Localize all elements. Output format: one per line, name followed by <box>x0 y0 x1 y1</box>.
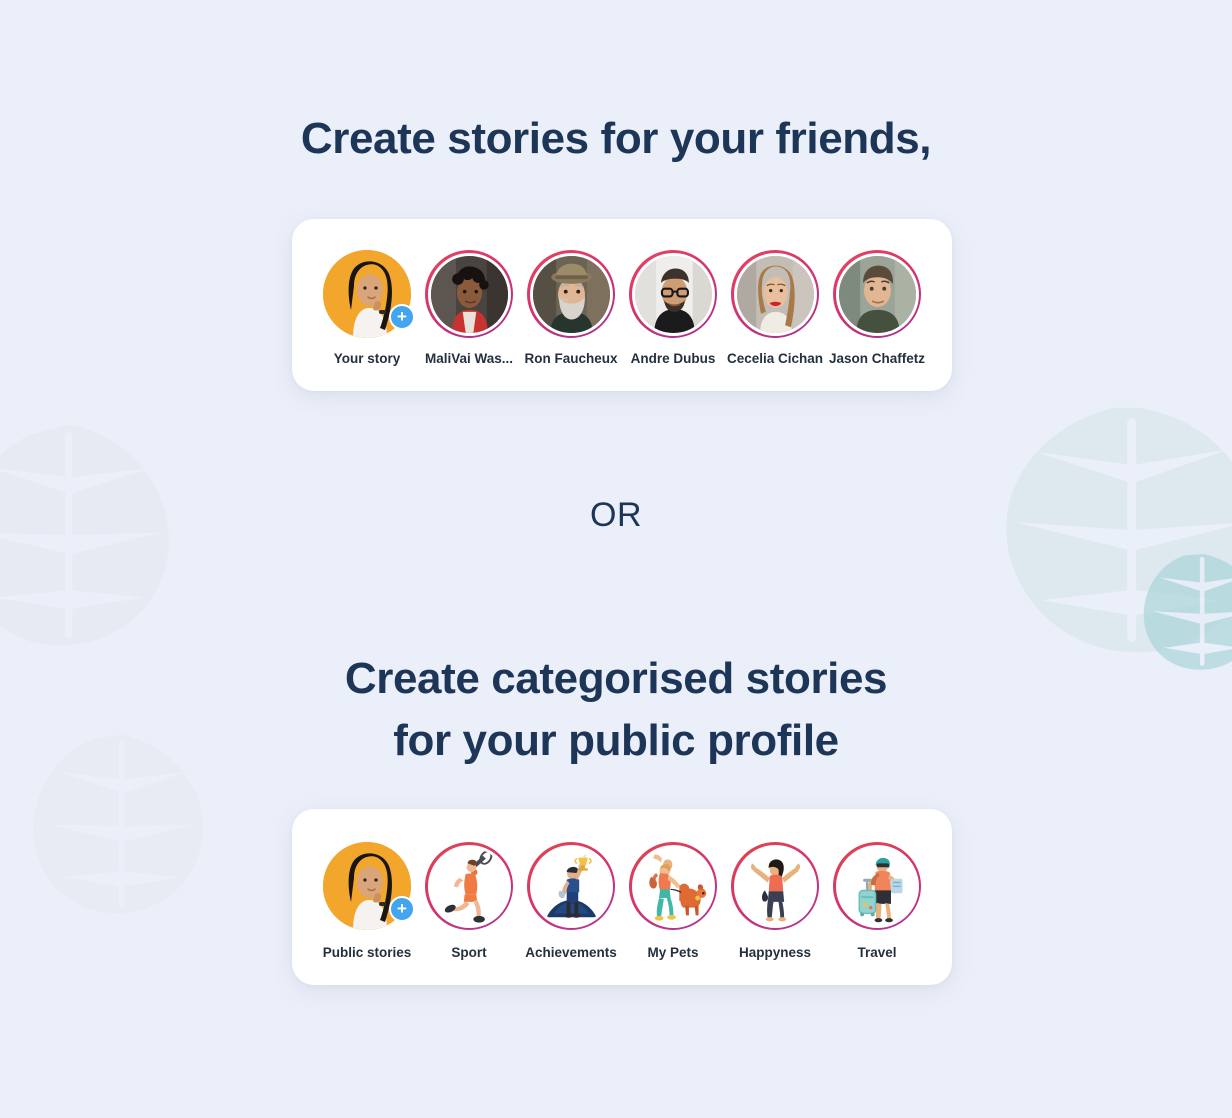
story-label: Sport <box>451 945 486 960</box>
category-ring[interactable] <box>629 842 717 930</box>
category-ring-inner <box>734 845 817 928</box>
story-item-achievements[interactable]: Achievements <box>520 842 622 960</box>
category-illustration <box>737 848 814 925</box>
traveler-suitcase-icon <box>839 848 916 925</box>
category-ring-inner <box>632 845 715 928</box>
public-stories-card: + Public stories <box>292 809 952 985</box>
category-ring[interactable] <box>425 842 513 930</box>
tennis-player-icon <box>431 848 508 925</box>
dog-walker-icon <box>635 848 712 925</box>
story-label: My Pets <box>647 945 698 960</box>
monstera-leaf-left-large-icon <box>0 415 195 655</box>
story-item-my-pets[interactable]: My Pets <box>622 842 724 960</box>
avatar-ring[interactable] <box>527 250 615 338</box>
page-title-secondary: Create categorised stories for your publ… <box>0 648 1232 771</box>
avatar-photo <box>839 256 916 333</box>
page-title-primary: Create stories for your friends, <box>0 114 1232 164</box>
avatar-photo <box>431 256 508 333</box>
story-label: Cecelia Cichan <box>727 351 823 366</box>
category-illustration <box>839 848 916 925</box>
story-item-your-story[interactable]: + Your story <box>316 250 418 366</box>
avatar-ring-inner <box>632 253 715 336</box>
add-story-badge[interactable]: + <box>389 304 415 330</box>
public-stories-strip: + Public stories <box>316 809 928 960</box>
woman-red-lips-portrait-icon <box>737 256 814 333</box>
story-item-cecelia-cichan[interactable]: Cecelia Cichan <box>724 250 826 366</box>
story-label: Andre Dubus <box>631 351 716 366</box>
avatar-your-story[interactable]: + <box>323 250 411 338</box>
story-item-travel[interactable]: Travel <box>826 842 928 960</box>
bearded-man-with-hat-portrait-icon <box>533 256 610 333</box>
category-ring[interactable] <box>731 842 819 930</box>
avatar-ring[interactable] <box>833 250 921 338</box>
story-item-andre-dubus[interactable]: Andre Dubus <box>622 250 724 366</box>
category-ring-inner <box>428 845 511 928</box>
man-with-glasses-portrait-icon <box>635 256 712 333</box>
avatar-ring[interactable] <box>629 250 717 338</box>
celebrating-woman-icon <box>737 848 814 925</box>
story-label: Ron Faucheux <box>524 351 617 366</box>
category-ring-inner <box>530 845 613 928</box>
avatar-photo <box>635 256 712 333</box>
page-title-secondary-line1: Create categorised stories <box>0 648 1232 710</box>
story-item-happyness[interactable]: Happyness <box>724 842 826 960</box>
friends-stories-card: + Your story <box>292 219 952 391</box>
story-item-malivai[interactable]: MaliVai Was... <box>418 250 520 366</box>
avatar-ring-inner <box>734 253 817 336</box>
trophy-winner-icon <box>533 848 610 925</box>
story-item-sport[interactable]: Sport <box>418 842 520 960</box>
category-ring-inner <box>836 845 919 928</box>
story-label: Achievements <box>525 945 617 960</box>
man-green-jacket-portrait-icon <box>839 256 916 333</box>
story-label: MaliVai Was... <box>425 351 513 366</box>
friends-stories-strip: + Your story <box>316 219 928 366</box>
avatar-ring-inner <box>836 253 919 336</box>
story-item-jason-chaffetz[interactable]: Jason Chaffetz <box>826 250 928 366</box>
avatar-ring-inner <box>530 253 613 336</box>
page-title-secondary-line2: for your public profile <box>0 710 1232 772</box>
category-illustration <box>533 848 610 925</box>
story-label: Happyness <box>739 945 811 960</box>
story-item-ron-faucheux[interactable]: Ron Faucheux <box>520 250 622 366</box>
story-item-public-stories[interactable]: + Public stories <box>316 842 418 960</box>
avatar-ring-inner <box>428 253 511 336</box>
story-label: Public stories <box>323 945 412 960</box>
young-man-portrait-icon <box>431 256 508 333</box>
category-ring[interactable] <box>833 842 921 930</box>
add-story-badge[interactable]: + <box>389 896 415 922</box>
avatar-public-stories[interactable]: + <box>323 842 411 930</box>
avatar-photo <box>533 256 610 333</box>
story-label: Jason Chaffetz <box>829 351 925 366</box>
story-label: Travel <box>857 945 896 960</box>
category-illustration <box>635 848 712 925</box>
story-label: Your story <box>334 351 401 366</box>
avatar-ring[interactable] <box>425 250 513 338</box>
avatar-ring[interactable] <box>731 250 819 338</box>
or-divider-label: OR <box>0 496 1232 535</box>
avatar-photo <box>737 256 814 333</box>
category-ring[interactable] <box>527 842 615 930</box>
category-illustration <box>431 848 508 925</box>
